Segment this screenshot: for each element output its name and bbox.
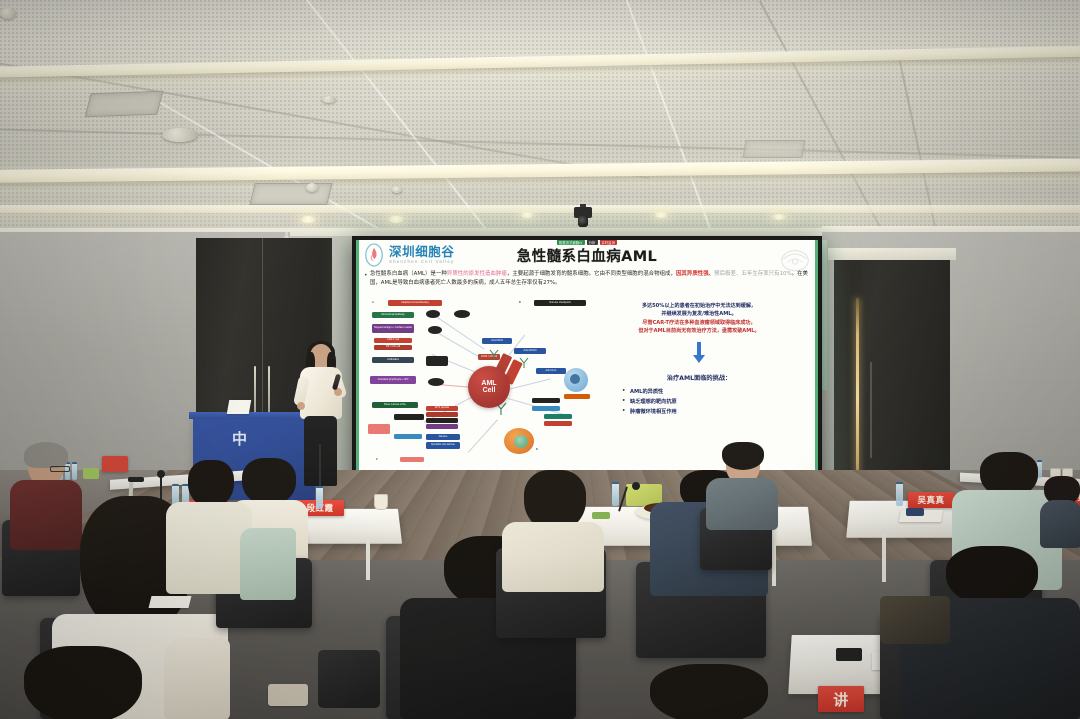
microphone-head[interactable] bbox=[632, 482, 640, 490]
diagram-node bbox=[368, 424, 390, 434]
antibody-icon bbox=[518, 356, 530, 374]
diagram-node: Adoptive immunotherapy bbox=[388, 300, 442, 306]
table-leg bbox=[366, 540, 370, 580]
immune-cell-nucleus bbox=[570, 374, 580, 384]
bag bbox=[880, 596, 950, 644]
diagram-node bbox=[394, 414, 424, 420]
challenge-item: 肿瘤微环境相互作用 bbox=[622, 407, 810, 417]
ceiling-sprinkler-head bbox=[0, 8, 16, 19]
red-storage-box bbox=[102, 456, 128, 472]
right-line-3: 尽管CAR-T疗法在多种血液瘤领域取得临床成功， bbox=[588, 319, 810, 327]
diagram-node bbox=[426, 418, 458, 423]
ceiling-air-vent bbox=[85, 91, 164, 117]
ceiling-camera bbox=[572, 204, 594, 228]
ceiling-light-cove bbox=[0, 205, 1080, 213]
paragraph-bullet: • bbox=[364, 271, 368, 281]
ceiling-smoke-detector bbox=[392, 186, 402, 193]
ceiling-downlight bbox=[520, 212, 534, 218]
diagram-node bbox=[544, 421, 572, 426]
aml-cell-label-1: AML bbox=[481, 380, 496, 387]
diagram-node: Targeted antigen + Surface marker bbox=[372, 324, 414, 333]
handbag bbox=[268, 684, 308, 706]
side-door-handle[interactable] bbox=[870, 362, 872, 458]
paper-cup bbox=[374, 494, 388, 510]
diagram-node bbox=[400, 457, 424, 462]
podium-logo-text: 中 bbox=[232, 428, 247, 449]
diagram-node: CAR-T cell bbox=[374, 338, 412, 343]
para-seg-5: 。 bbox=[555, 280, 560, 286]
speaker-leg-split bbox=[319, 444, 321, 486]
audience-member bbox=[24, 646, 144, 719]
conference-room-scene: 深圳细胞谷 Shenzhen Cell Valley 数据流式细胞仪 分析 实时… bbox=[0, 0, 1080, 719]
person-shirt bbox=[1040, 500, 1080, 548]
para-seg-2: ，主要起源于细胞发育的髓系细胞。它由不同类型细胞的混合物组成， bbox=[507, 271, 676, 277]
ceiling-downlight bbox=[654, 212, 668, 218]
person-hair bbox=[24, 646, 142, 719]
person-hair bbox=[722, 442, 764, 470]
diagram-ellipse-node bbox=[426, 310, 440, 318]
ceiling-air-vent bbox=[742, 140, 805, 158]
diagram-ellipse-node bbox=[454, 310, 470, 318]
para-seg-1: 急性髓系白血病（AML）是一种 bbox=[370, 271, 447, 277]
slide-badge-row: 数据流式细胞仪 分析 实时监测 bbox=[557, 240, 617, 245]
door-light-strip bbox=[856, 298, 859, 498]
diagram-node: Antibodies bbox=[372, 357, 414, 363]
ceiling-perforation-texture bbox=[0, 0, 1080, 236]
challenge-item: 缺乏理想的靶向抗原 bbox=[622, 397, 810, 407]
diagram-node: Anti-CLL1 bbox=[536, 368, 566, 374]
ceiling-air-vent bbox=[249, 183, 332, 205]
person-top bbox=[502, 522, 604, 592]
side-door[interactable] bbox=[834, 258, 950, 500]
person-hair bbox=[650, 664, 768, 719]
badge-dark: 分析 bbox=[587, 240, 598, 245]
smartphone[interactable] bbox=[836, 648, 862, 661]
diagram-ellipse-node bbox=[428, 326, 442, 334]
diagram-panel-label-b: B bbox=[519, 301, 521, 304]
door-head-trim bbox=[828, 248, 956, 260]
slide-edge-left bbox=[356, 240, 359, 482]
diagram-node: Anti-CD33 bbox=[482, 338, 512, 344]
slide-title: 急性髓系白血病AML bbox=[356, 245, 818, 266]
ceiling-downlight bbox=[772, 214, 786, 220]
para-seg-4: 27% bbox=[543, 280, 555, 286]
right-statement: 多达50%以上的患者在初始治疗中无法达到缓解， 并继续发展为复发/难治性AML。… bbox=[588, 302, 810, 335]
diagram-node: Monoclonal antibody bbox=[372, 312, 414, 318]
aml-cell-node: AML Cell bbox=[468, 366, 510, 408]
slide-edge-right bbox=[815, 240, 818, 482]
right-line-4: 但对于AML目前尚无有效治疗方法，亟需攻破AML。 bbox=[588, 327, 810, 335]
aml-cell-label-2: Cell bbox=[483, 387, 496, 394]
diagram-node: Vaccine bbox=[426, 434, 460, 440]
ceiling-smoke-detector bbox=[322, 96, 336, 103]
para-seg-pink: 异质性的原发性造血肿瘤 bbox=[447, 271, 507, 277]
speaker-hand-left bbox=[297, 402, 305, 410]
diagram-node bbox=[394, 434, 422, 439]
diagram-node bbox=[426, 424, 458, 429]
para-seg-red: 因其异质性强、 bbox=[676, 271, 714, 277]
diagram-box-node bbox=[426, 356, 448, 366]
diagram-node: Dendritic cell vaccine bbox=[426, 442, 460, 449]
nameplate: 吴真真 bbox=[908, 492, 954, 508]
wall-accent-strip bbox=[822, 240, 827, 390]
badge-green: 数据流式细胞仪 bbox=[557, 240, 585, 245]
audience-member bbox=[1040, 476, 1080, 546]
diagram-node bbox=[532, 398, 560, 403]
ceiling-downlight bbox=[388, 216, 404, 223]
person-hair bbox=[24, 442, 68, 468]
remote-control[interactable] bbox=[128, 477, 144, 482]
para-seg-gray2: 10% bbox=[780, 271, 792, 277]
eyeglasses bbox=[50, 466, 70, 472]
diagram-panel-label-d: D bbox=[536, 448, 538, 451]
diagram-node bbox=[544, 414, 572, 419]
green-tray bbox=[83, 468, 99, 479]
backpack bbox=[318, 650, 380, 708]
person-hair bbox=[188, 460, 234, 508]
diagram-ellipse-node bbox=[428, 378, 444, 386]
shawl bbox=[240, 528, 296, 600]
diagram-node: Immune checkpoint bbox=[534, 300, 586, 306]
antibody-icon bbox=[488, 348, 500, 366]
aml-pathway-diagram: A B C D Adoptive immunotherapy Monoclona… bbox=[368, 302, 586, 467]
tablet-device[interactable] bbox=[906, 508, 924, 516]
water-bottle bbox=[316, 486, 323, 509]
water-bottle bbox=[612, 482, 619, 506]
person-shirt bbox=[706, 478, 778, 530]
podium-notes bbox=[227, 400, 251, 414]
diagram-node: Anti-CD123 bbox=[514, 348, 546, 354]
audience-member bbox=[706, 446, 778, 526]
audience-member bbox=[650, 664, 770, 719]
challenge-item: AML的异质性 bbox=[622, 387, 810, 397]
diagram-panel-label-a: A bbox=[372, 301, 374, 304]
person-hair bbox=[946, 546, 1038, 606]
challenges-heading: 治疗AML面临的挑战： bbox=[588, 373, 810, 382]
table-leg bbox=[772, 542, 776, 586]
diagram-node: Activated lymphocyte + IFN bbox=[370, 376, 416, 384]
ceiling bbox=[0, 0, 1080, 236]
ceiling-speaker bbox=[162, 128, 198, 142]
audience-member bbox=[500, 470, 606, 582]
badge-red: 实时监测 bbox=[599, 240, 617, 245]
diagram-node: Bone marrow niche bbox=[372, 402, 418, 408]
right-line-2: 并继续发展为复发/难治性AML。 bbox=[588, 310, 810, 318]
para-seg-gray: 预后极差、五年生存率只有 bbox=[714, 271, 779, 277]
ceiling-downlight bbox=[300, 216, 316, 223]
diagram-node bbox=[564, 394, 590, 399]
diagram-node bbox=[426, 412, 458, 417]
microphone-head[interactable] bbox=[157, 470, 165, 478]
diagram-node: NK / CIK cell bbox=[374, 345, 412, 350]
slide-right-column: 多达50%以上的患者在初始治疗中无法达到缓解， 并继续发展为复发/难治性AML。… bbox=[588, 302, 810, 417]
diagram-connector bbox=[468, 419, 498, 452]
down-arrow-icon bbox=[692, 342, 706, 369]
nameplate: 讲 bbox=[818, 686, 864, 712]
camera-lens-icon bbox=[578, 216, 588, 227]
niche-cell bbox=[514, 435, 528, 448]
right-line-1: 多达50%以上的患者在初始治疗中无法达到缓解， bbox=[588, 302, 810, 310]
audience-member bbox=[240, 528, 298, 602]
challenges-list: AML的异质性 缺乏理想的靶向抗原 肿瘤微环境相互作用 bbox=[622, 387, 810, 417]
diagram-panel-label-c: C bbox=[376, 458, 378, 461]
diagram-node: WT1 peptide bbox=[426, 406, 458, 411]
ceiling-smoke-detector bbox=[306, 183, 318, 192]
diagram-node bbox=[532, 406, 560, 411]
person-arm bbox=[164, 638, 230, 719]
table-leg bbox=[882, 534, 886, 582]
slide-paragraph: • 急性髓系白血病（AML）是一种异质性的原发性造血肿瘤，主要起源于细胞发育的髓… bbox=[370, 270, 808, 289]
paper-on-floor bbox=[149, 596, 192, 608]
water-bottle bbox=[896, 482, 903, 506]
